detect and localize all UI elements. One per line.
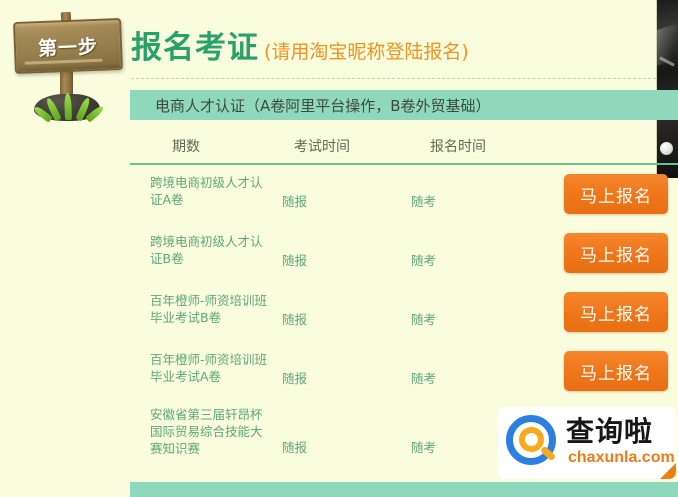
cell-exam-time: 随报: [282, 250, 307, 269]
cell-exam-time: 随报: [282, 368, 307, 387]
sign-board: 第一步: [13, 18, 123, 74]
column-header-term: 期数: [172, 136, 200, 156]
page-title: 报名考证: [131, 22, 259, 67]
cell-exam-time: 随报: [282, 437, 307, 456]
cell-exam-name: 安徽省第三届轩昂杯国际贸易综合技能大赛知识赛: [150, 406, 270, 457]
cell-exam-name: 跨境电商初级人才认证B卷: [150, 233, 270, 267]
step-sign-graphic: 第一步: [8, 8, 124, 124]
enroll-button[interactable]: 马上报名: [564, 233, 668, 273]
cell-exam-name: 百年橙师-师资培训班毕业考试B卷: [150, 292, 270, 326]
cell-exam-time: 随报: [282, 191, 307, 210]
cell-signup-time: 随考: [411, 309, 436, 328]
watermark-brand: 查询啦: [566, 410, 653, 450]
step-label: 第一步: [16, 31, 121, 62]
watermark-url: chaxunla.com: [568, 449, 675, 467]
column-header-exam-time: 考试时间: [294, 136, 350, 156]
page-root: 第一步 报名考证 (请用淘宝昵称登陆报名) 电商人才认证（A卷阿里平台操作，B卷…: [0, 0, 678, 497]
watermark-logo: 查询啦 chaxunla.com: [498, 407, 676, 479]
enroll-button[interactable]: 马上报名: [564, 292, 668, 332]
page-header: 报名考证 (请用淘宝昵称登陆报名): [131, 22, 469, 67]
certification-banner: 电商人才认证（A卷阿里平台操作，B卷外贸基础）: [130, 90, 678, 120]
header-divider: [131, 78, 656, 79]
cell-signup-time: 随考: [411, 368, 436, 387]
watermark-corner-accent: [660, 463, 676, 479]
sign-grass: [46, 90, 94, 120]
cell-signup-time: 随考: [411, 437, 436, 456]
table-row: 跨境电商初级人才认证B卷 随报 随考 马上报名: [130, 224, 678, 283]
enroll-button[interactable]: 马上报名: [564, 174, 668, 214]
table-header-row: 期数 考试时间 报名时间: [130, 128, 678, 165]
cell-exam-name: 百年橙师-师资培训班毕业考试A卷: [150, 351, 270, 385]
cell-exam-name: 跨境电商初级人才认证A卷: [150, 174, 270, 208]
magnifier-icon: [506, 415, 562, 471]
bottom-accent-bar: [130, 482, 678, 497]
table-row: 跨境电商初级人才认证A卷 随报 随考 马上报名: [130, 165, 678, 224]
table-row: 百年橙师-师资培训班毕业考试B卷 随报 随考 马上报名: [130, 283, 678, 342]
cell-signup-time: 随考: [411, 250, 436, 269]
certification-banner-text: 电商人才认证（A卷阿里平台操作，B卷外贸基础）: [155, 95, 491, 116]
grass-blade: [64, 93, 72, 120]
enroll-button[interactable]: 马上报名: [564, 351, 668, 391]
column-header-signup-time: 报名时间: [430, 136, 486, 156]
cell-signup-time: 随考: [411, 191, 436, 210]
table-row: 百年橙师-师资培训班毕业考试A卷 随报 随考 马上报名: [130, 342, 678, 401]
cell-exam-time: 随报: [282, 309, 307, 328]
page-title-note: (请用淘宝昵称登陆报名): [264, 37, 469, 64]
